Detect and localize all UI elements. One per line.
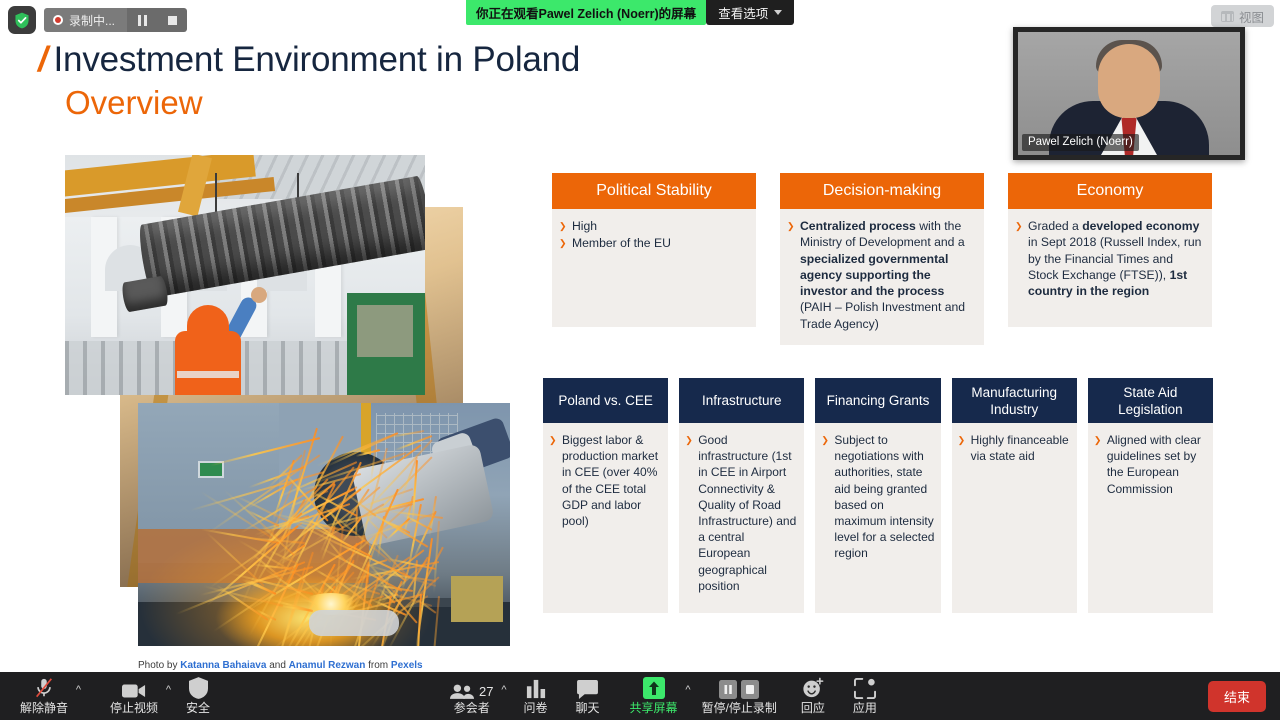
toolbar-item-label: 解除静音: [20, 701, 68, 715]
bullet-list: Centralized process with the Ministry of…: [787, 218, 976, 332]
poll-bars-icon: [526, 677, 546, 699]
bullet-list: Aligned with clear guidelines set by the…: [1094, 432, 1207, 497]
bullet-list: HighMember of the EU: [559, 218, 748, 252]
view-button-label: 视图: [1239, 7, 1264, 26]
top-card-title: Decision-making: [780, 173, 984, 209]
bottom-card-title: Poland vs. CEE: [543, 378, 668, 423]
title-slash-accent: /: [38, 38, 48, 82]
top-card-2: Decision-makingCentralized process with …: [780, 173, 984, 345]
toolbar-item-label: 停止视频: [110, 701, 158, 715]
pause-stop-recording-icon: [719, 680, 759, 699]
bottom-card-title: Financing Grants: [815, 378, 940, 423]
toolbar-item-label: 参会者: [454, 701, 490, 715]
recording-status: 录制中...: [44, 8, 127, 32]
participants-icon: 27: [450, 677, 493, 699]
bullet-text: Aligned with clear guidelines set by the…: [1107, 433, 1201, 496]
slide-title-primary: /Investment Environment in Poland: [38, 38, 580, 82]
bullet-item: Member of the EU: [559, 235, 748, 251]
bullet-item: Aligned with clear guidelines set by the…: [1094, 432, 1207, 497]
toolbar-poll-bars-button[interactable]: 问卷: [524, 672, 548, 720]
toolbar-chat-bubble-button[interactable]: 聊天: [576, 672, 600, 720]
slide-title-block: /Investment Environment in Poland Overvi…: [38, 38, 580, 124]
photo-credit-conjunction: and: [266, 660, 288, 671]
bullet-list: Biggest labor & production market in CEE…: [549, 432, 662, 529]
bullet-text: High: [572, 219, 597, 233]
bullet-item: Centralized process with the Ministry of…: [787, 218, 976, 332]
photo-credit-author-1-link[interactable]: Katanna Bahaiava: [180, 660, 266, 671]
bullet-item: Graded a developed economy in Sept 2018 …: [1015, 218, 1204, 299]
grid-view-icon: [1221, 11, 1234, 22]
recording-control-bar: 录制中...: [8, 6, 187, 34]
microphone-muted-icon: [33, 677, 55, 699]
bottom-card-3: Financing GrantsSubject to negotiations …: [815, 378, 940, 613]
bullet-text: Biggest labor & production market in CEE…: [562, 433, 658, 528]
view-options-label: 查看选项: [718, 3, 768, 22]
bullet-emphasis: Centralized process: [800, 219, 916, 233]
recording-pill: 录制中...: [44, 8, 187, 32]
zoom-screen-share-window: /Investment Environment in Poland Overvi…: [0, 0, 1280, 720]
bottom-card-body: Subject to negotiations with authorities…: [815, 423, 940, 613]
poll-bars-icon: [526, 679, 546, 699]
bullet-emphasis: specialized governmental agency supporti…: [800, 252, 948, 299]
bullet-item: Subject to negotiations with authorities…: [821, 432, 934, 562]
bullet-text: Highly financeable via state aid: [971, 433, 1069, 463]
apps-icon: [854, 677, 876, 699]
top-card-row: Political StabilityHighMember of the EUD…: [552, 173, 1212, 345]
zoom-meeting-toolbar: 解除静音^停止视频^安全27参会者^问卷聊天共享屏幕^暂停/停止录制回应应用 结…: [0, 672, 1280, 720]
toolbar-microphone-muted-button[interactable]: 解除静音^: [20, 672, 68, 720]
bullet-emphasis: developed economy: [1082, 219, 1199, 233]
bullet-list: Highly financeable via state aid: [958, 432, 1071, 464]
video-camera-icon: [122, 683, 146, 699]
bottom-card-body: Highly financeable via state aid: [952, 423, 1077, 613]
share-screen-up-arrow-icon: [643, 677, 665, 699]
slide-title-text: Investment Environment in Poland: [54, 40, 581, 79]
toolbar-item-label: 暂停/停止录制: [702, 701, 777, 715]
bottom-card-row: Poland vs. CEEBiggest labor & production…: [543, 378, 1213, 613]
toolbar-item-label: 回应: [801, 701, 825, 715]
chat-bubble-icon: [577, 680, 598, 699]
photo-credit-from: from: [365, 660, 391, 671]
participant-video-tile[interactable]: Pawel Zelich (Noerr): [1013, 27, 1245, 160]
top-card-3: EconomyGraded a developed economy in Sep…: [1008, 173, 1212, 345]
bullet-list: Graded a developed economy in Sept 2018 …: [1015, 218, 1204, 299]
participant-count: 27: [479, 684, 493, 699]
top-card-title: Political Stability: [552, 173, 756, 209]
bottom-card-title: Infrastructure: [679, 378, 804, 423]
photo-credit-author-2-link[interactable]: Anamul Rezwan: [289, 660, 366, 671]
apps-icon: [854, 678, 876, 699]
bullet-item: High: [559, 218, 748, 234]
shield-check-icon: [14, 12, 30, 29]
record-dot-icon: [53, 15, 63, 25]
bullet-text: Subject to negotiations with authorities…: [834, 433, 934, 560]
recording-status-label: 录制中...: [69, 12, 115, 29]
toolbar-item-label: 共享屏幕: [630, 701, 678, 715]
microphone-muted-icon: [33, 677, 55, 699]
shield-icon: [189, 677, 208, 699]
photo-credit-source-link[interactable]: Pexels: [391, 660, 423, 671]
view-options-button[interactable]: 查看选项: [706, 0, 794, 25]
toolbar-reactions-smiley-button[interactable]: 回应: [801, 672, 825, 720]
security-shield-badge[interactable]: [8, 6, 36, 34]
video-person-face: [1098, 44, 1160, 118]
share-screen-up-arrow-icon: [643, 677, 665, 699]
stop-recording-button[interactable]: [157, 8, 187, 32]
grinding-sparks-photo: [138, 403, 510, 646]
bullet-item: Biggest labor & production market in CEE…: [549, 432, 662, 529]
video-participant-name: Pawel Zelich (Noerr): [1022, 134, 1139, 151]
bottom-card-4: Manufacturing IndustryHighly financeable…: [952, 378, 1077, 613]
stop-icon: [168, 16, 177, 25]
chevron-up-icon[interactable]: ^: [685, 684, 690, 696]
bottom-card-2: InfrastructureGood infrastructure (1st i…: [679, 378, 804, 613]
bottom-card-5: State Aid LegislationAligned with clear …: [1088, 378, 1213, 613]
reactions-smiley-icon: [802, 677, 824, 699]
bottom-card-body: Good infrastructure (1st in CEE in Airpo…: [679, 423, 804, 613]
bullet-text: (PAIH – Polish Investment and Trade Agen…: [800, 300, 965, 330]
bottom-card-body: Aligned with clear guidelines set by the…: [1088, 423, 1213, 613]
top-card-body: Graded a developed economy in Sept 2018 …: [1008, 209, 1212, 327]
bottom-card-title: State Aid Legislation: [1088, 378, 1213, 423]
bottom-card-1: Poland vs. CEEBiggest labor & production…: [543, 378, 668, 613]
toolbar-item-label: 聊天: [576, 701, 600, 715]
slide-subtitle: Overview: [65, 82, 580, 124]
chat-bubble-icon: [577, 677, 598, 699]
toolbar-pause-stop-recording-button[interactable]: 暂停/停止录制: [702, 672, 777, 720]
toolbar-item-label: 安全: [186, 701, 210, 715]
bullet-text: Graded a: [1028, 219, 1082, 233]
bullet-item: Highly financeable via state aid: [958, 432, 1071, 464]
chevron-down-icon: [774, 10, 782, 15]
reactions-smiley-icon: [802, 677, 824, 699]
end-meeting-button[interactable]: 结束: [1208, 681, 1266, 712]
pause-stop-recording-icon: [719, 677, 759, 699]
toolbar-item-label: 应用: [853, 701, 877, 715]
pause-recording-button[interactable]: [127, 8, 157, 32]
screen-share-banner: 你正在观看Pawel Zelich (Noerr)的屏幕 查看选项: [466, 0, 794, 25]
toolbar-item-label: 问卷: [524, 701, 548, 715]
bullet-list: Subject to negotiations with authorities…: [821, 432, 934, 562]
participants-icon: [450, 684, 474, 699]
top-card-body: HighMember of the EU: [552, 209, 756, 327]
top-card-body: Centralized process with the Ministry of…: [780, 209, 984, 345]
video-camera-icon: [122, 677, 146, 699]
bullet-item: Good infrastructure (1st in CEE in Airpo…: [685, 432, 798, 594]
chevron-up-icon[interactable]: ^: [501, 684, 506, 696]
toolbar-apps-button[interactable]: 应用: [853, 672, 877, 720]
bullet-text: Good infrastructure (1st in CEE in Airpo…: [698, 433, 796, 593]
pause-icon: [138, 15, 147, 26]
toolbar-participants-button[interactable]: 27参会者^: [450, 672, 493, 720]
chevron-up-icon[interactable]: ^: [166, 684, 171, 696]
bullet-list: Good infrastructure (1st in CEE in Airpo…: [685, 432, 798, 594]
shield-icon: [189, 677, 208, 699]
photo-credit-prefix: Photo by: [138, 660, 180, 671]
top-card-1: Political StabilityHighMember of the EU: [552, 173, 756, 345]
photo-credit: Photo by Katanna Bahaiava and Anamul Rez…: [138, 660, 423, 671]
toolbar-video-camera-button[interactable]: 停止视频^: [110, 672, 158, 720]
toolbar-share-screen-up-arrow-button[interactable]: 共享屏幕^: [630, 672, 678, 720]
chevron-up-icon[interactable]: ^: [76, 684, 81, 696]
share-banner-message: 你正在观看Pawel Zelich (Noerr)的屏幕: [466, 0, 706, 25]
bottom-card-title: Manufacturing Industry: [952, 378, 1077, 423]
factory-worker-photo: [65, 155, 425, 395]
top-card-title: Economy: [1008, 173, 1212, 209]
toolbar-shield-button[interactable]: 安全: [186, 672, 210, 720]
view-layout-button[interactable]: 视图: [1211, 5, 1274, 27]
bullet-text: Member of the EU: [572, 236, 671, 250]
bottom-card-body: Biggest labor & production market in CEE…: [543, 423, 668, 613]
